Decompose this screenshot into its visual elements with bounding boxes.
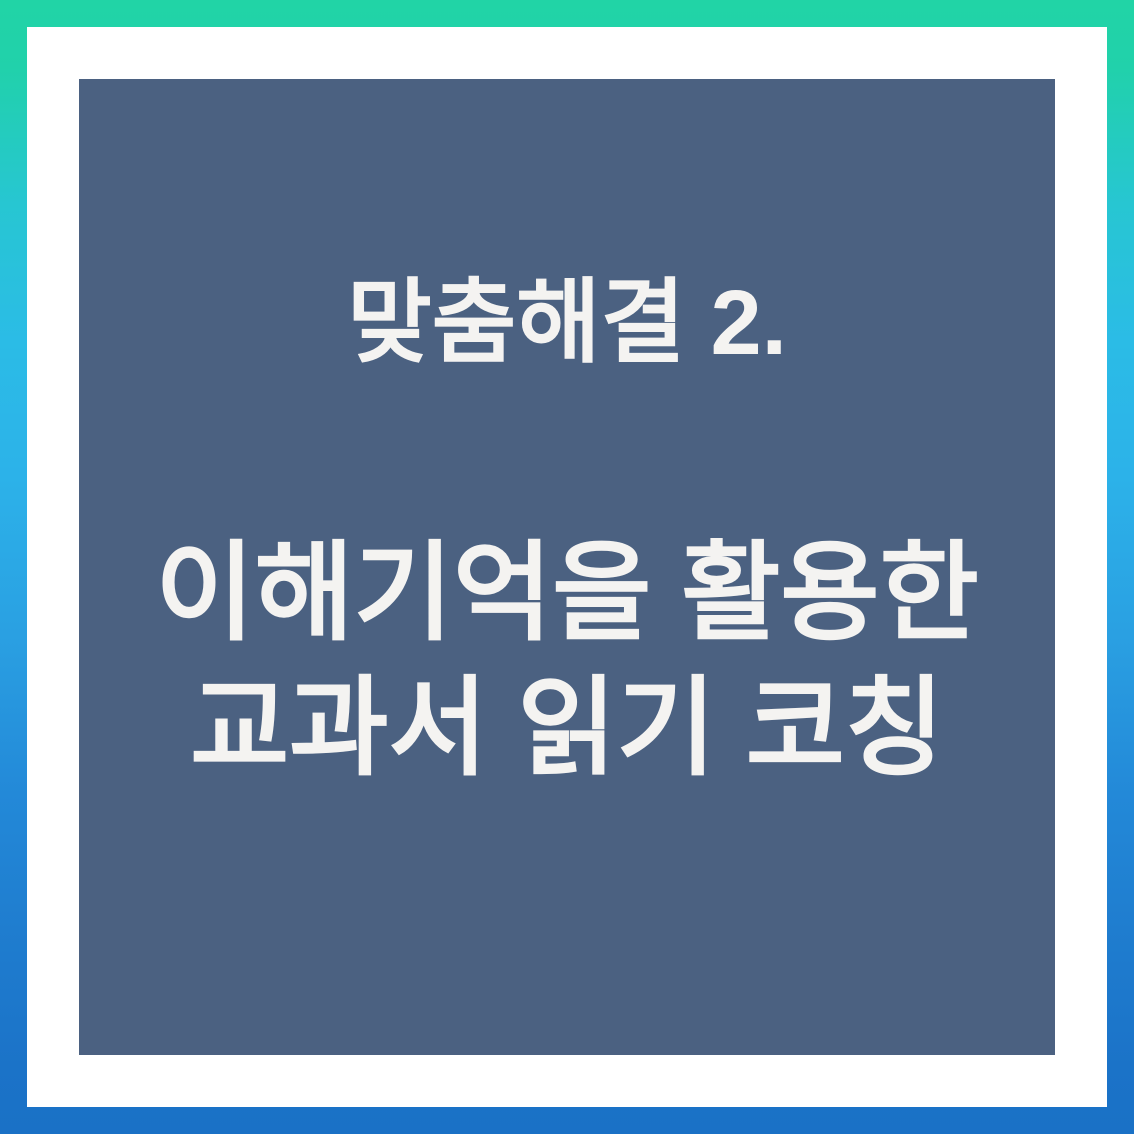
slate-content-panel: 맞춤해결 2. 이해기억을 활용한 교과서 읽기 코칭 [79, 79, 1055, 1055]
title-block: 맞춤해결 2. 이해기억을 활용한 교과서 읽기 코칭 [79, 79, 1055, 793]
title-card-poster: 맞춤해결 2. 이해기억을 활용한 교과서 읽기 코칭 [0, 0, 1134, 1134]
title-line-secondary: 이해기억을 활용한 [97, 528, 1037, 658]
title-line-primary: 맞춤해결 2. [97, 269, 1037, 378]
white-frame-border: 맞춤해결 2. 이해기억을 활용한 교과서 읽기 코칭 [27, 27, 1107, 1107]
title-line-spacer [97, 378, 1037, 528]
title-line-tertiary: 교과서 읽기 코칭 [97, 663, 1037, 793]
